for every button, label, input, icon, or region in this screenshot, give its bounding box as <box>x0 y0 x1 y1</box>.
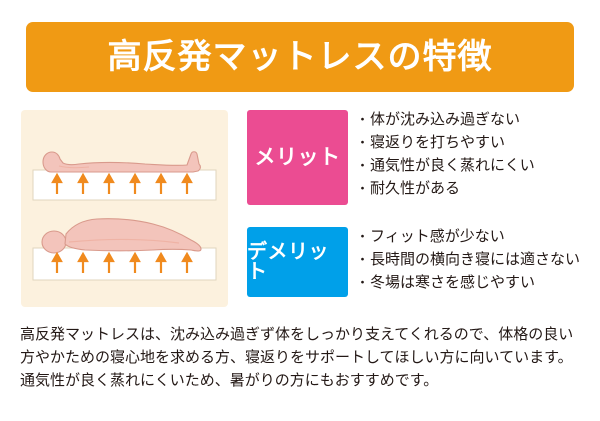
list-item: ・ 耐久性がある <box>356 179 587 202</box>
demerit-item-text: 長時間の横向き寝には適さない <box>370 252 587 267</box>
list-item: ・ 通気性が良く蒸れにくい <box>356 156 587 179</box>
merit-item-text: 体が沈み込み過ぎない <box>370 112 587 127</box>
list-item: ・ 体が沈み込み過ぎない <box>356 110 587 133</box>
merit-badge: メリット <box>247 110 348 205</box>
demerit-badge: デメリット <box>247 227 348 297</box>
side-view-figure <box>33 152 216 200</box>
mattress-support-illustration <box>21 110 228 307</box>
bullet-icon: ・ <box>356 113 369 126</box>
list-item: ・ 冬場は寒さを感じやすい <box>356 273 587 296</box>
demerit-block: デメリット ・ フィット感が少ない ・ 長時間の横向き寝には適さない ・ 冬場は… <box>247 227 587 297</box>
top-view-figure <box>33 219 216 280</box>
features-section: メリット ・ 体が沈み込み過ぎない ・ 寝返りを打ちやすい ・ 通気性が良く蒸れ… <box>247 110 587 297</box>
page-title: 高反発マットレスの特徴 <box>108 40 493 74</box>
title-banner: 高反発マットレスの特徴 <box>26 22 574 92</box>
demerit-list: ・ フィット感が少ない ・ 長時間の横向き寝には適さない ・ 冬場は寒さを感じや… <box>348 227 587 296</box>
mattress-slab-top <box>33 170 216 200</box>
head-shape-top <box>42 231 66 253</box>
list-item: ・ フィット感が少ない <box>356 227 587 250</box>
demerit-item-text: フィット感が少ない <box>370 229 587 244</box>
bullet-icon: ・ <box>356 182 369 195</box>
bullet-icon: ・ <box>356 276 369 289</box>
merit-item-text: 耐久性がある <box>370 181 587 196</box>
merit-item-text: 通気性が良く蒸れにくい <box>370 158 587 173</box>
bullet-icon: ・ <box>356 230 369 243</box>
demerit-item-text: 冬場は寒さを感じやすい <box>370 275 587 290</box>
bullet-icon: ・ <box>356 136 369 149</box>
summary-line: 通気性が良く蒸れにくいため、暑がりの方にもおすすめです。 <box>20 369 586 392</box>
list-item: ・ 長時間の横向き寝には適さない <box>356 250 587 273</box>
merit-list: ・ 体が沈み込み過ぎない ・ 寝返りを打ちやすい ・ 通気性が良く蒸れにくい ・… <box>348 110 587 202</box>
mattress-slab-bottom <box>33 248 216 280</box>
infographic-root: 高反発マットレスの特徴 <box>0 0 600 421</box>
list-item: ・ 寝返りを打ちやすい <box>356 133 587 156</box>
body-shape-side <box>43 152 200 172</box>
demerit-badge-label: デメリット <box>247 242 348 282</box>
bullet-icon: ・ <box>356 253 369 266</box>
merit-badge-label: メリット <box>255 147 341 168</box>
summary-line: 方やかための寝心地を求める方、寝返りをサポートしてほしい方に向いています。 <box>20 346 586 369</box>
merit-block: メリット ・ 体が沈み込み過ぎない ・ 寝返りを打ちやすい ・ 通気性が良く蒸れ… <box>247 110 587 205</box>
merit-item-text: 寝返りを打ちやすい <box>370 135 587 150</box>
summary-line: 高反発マットレスは、沈み込み過ぎず体をしっかり支えてくれるので、体格の良い <box>20 323 586 346</box>
illustration-panel <box>21 110 228 307</box>
body-shape-top <box>65 219 201 251</box>
summary-paragraph: 高反発マットレスは、沈み込み過ぎず体をしっかり支えてくれるので、体格の良い 方や… <box>20 323 586 392</box>
bullet-icon: ・ <box>356 159 369 172</box>
